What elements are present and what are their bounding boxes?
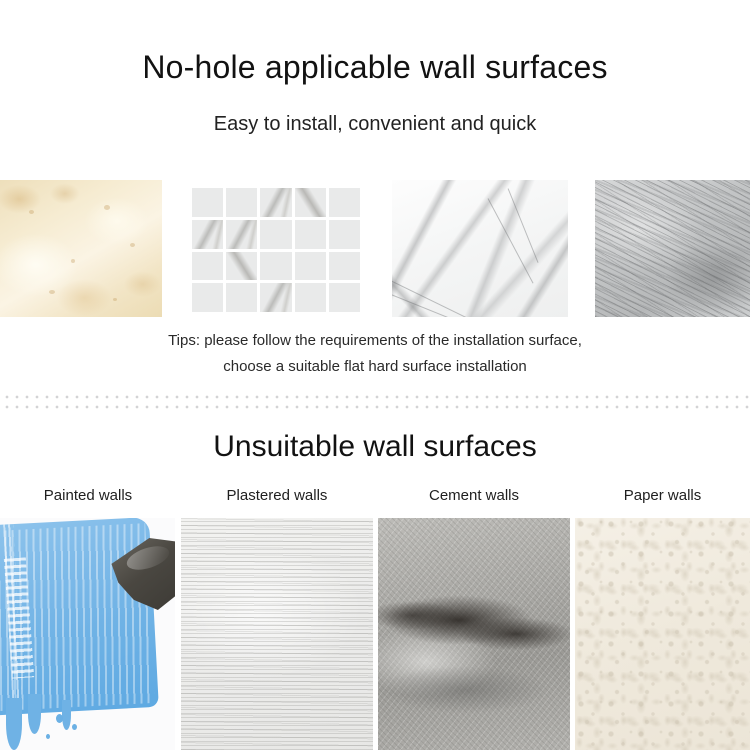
mosaic-cell xyxy=(226,220,257,249)
surface-image-mosaic-tile xyxy=(192,180,360,317)
mosaic-grid xyxy=(192,188,360,312)
texture-speck xyxy=(71,259,75,263)
mosaic-cell xyxy=(295,220,326,249)
mosaic-cell xyxy=(192,220,223,249)
wallpaper-pattern-secondary xyxy=(575,518,750,750)
mosaic-cell xyxy=(295,283,326,312)
tips-line-2: choose a suitable flat hard surface inst… xyxy=(0,354,750,380)
paint-droplet xyxy=(46,734,50,739)
mosaic-cell xyxy=(260,252,291,281)
paint-droplet xyxy=(72,724,77,730)
mosaic-cell xyxy=(226,283,257,312)
mosaic-cell xyxy=(192,283,223,312)
photo-paper-wall xyxy=(575,518,750,750)
tips-line-1: Tips: please follow the requirements of … xyxy=(0,328,750,354)
unsuitable-photo-gallery xyxy=(0,518,750,750)
paint-drip xyxy=(28,694,41,734)
label-cement-walls: Cement walls xyxy=(378,487,570,504)
installation-tips: Tips: please follow the requirements of … xyxy=(0,328,750,380)
page-subtitle: Easy to install, convenient and quick xyxy=(0,113,750,136)
label-painted-walls: Painted walls xyxy=(0,487,176,504)
mosaic-cell xyxy=(260,188,291,217)
mosaic-cell xyxy=(329,252,360,281)
mosaic-cell xyxy=(329,283,360,312)
surface-image-gray-slate xyxy=(595,180,750,317)
texture-speck xyxy=(113,298,117,301)
unsuitable-labels-row: Painted walls Plastered walls Cement wal… xyxy=(0,487,750,509)
marble-vein xyxy=(392,292,475,317)
mosaic-cell xyxy=(329,188,360,217)
unsuitable-surfaces-section: Unsuitable wall surfaces Painted walls P… xyxy=(0,414,750,750)
surface-image-white-marble xyxy=(392,180,568,317)
marble-vein xyxy=(507,188,538,263)
photo-plastered-wall xyxy=(181,518,373,750)
page-title: No-hole applicable wall surfaces xyxy=(0,49,750,86)
paint-drip xyxy=(6,698,22,750)
label-paper-walls: Paper walls xyxy=(575,487,750,504)
product-infographic-page: No-hole applicable wall surfaces Easy to… xyxy=(0,0,750,750)
mosaic-cell xyxy=(295,188,326,217)
texture-speck xyxy=(130,243,135,247)
texture-speck xyxy=(49,290,55,294)
mosaic-cell xyxy=(226,188,257,217)
dotted-divider xyxy=(0,390,750,414)
mosaic-cell xyxy=(192,252,223,281)
mosaic-cell xyxy=(226,252,257,281)
mosaic-cell xyxy=(260,220,291,249)
photo-cement-wall xyxy=(378,518,570,750)
marble-vein xyxy=(488,198,534,283)
mosaic-cell xyxy=(295,252,326,281)
paint-drip xyxy=(62,700,71,730)
marble-vein xyxy=(392,276,490,317)
mosaic-cell xyxy=(192,188,223,217)
suitable-surface-gallery xyxy=(0,180,750,317)
label-plastered-walls: Plastered walls xyxy=(181,487,373,504)
texture-speck xyxy=(29,210,34,214)
paint-droplet xyxy=(56,714,63,723)
unsuitable-section-title: Unsuitable wall surfaces xyxy=(0,430,750,464)
texture-speck xyxy=(104,205,110,210)
suitable-surfaces-section: No-hole applicable wall surfaces Easy to… xyxy=(0,0,750,392)
mosaic-cell xyxy=(329,220,360,249)
mosaic-cell xyxy=(260,283,291,312)
surface-image-beige-marble xyxy=(0,180,162,317)
photo-painted-wall xyxy=(0,518,175,750)
